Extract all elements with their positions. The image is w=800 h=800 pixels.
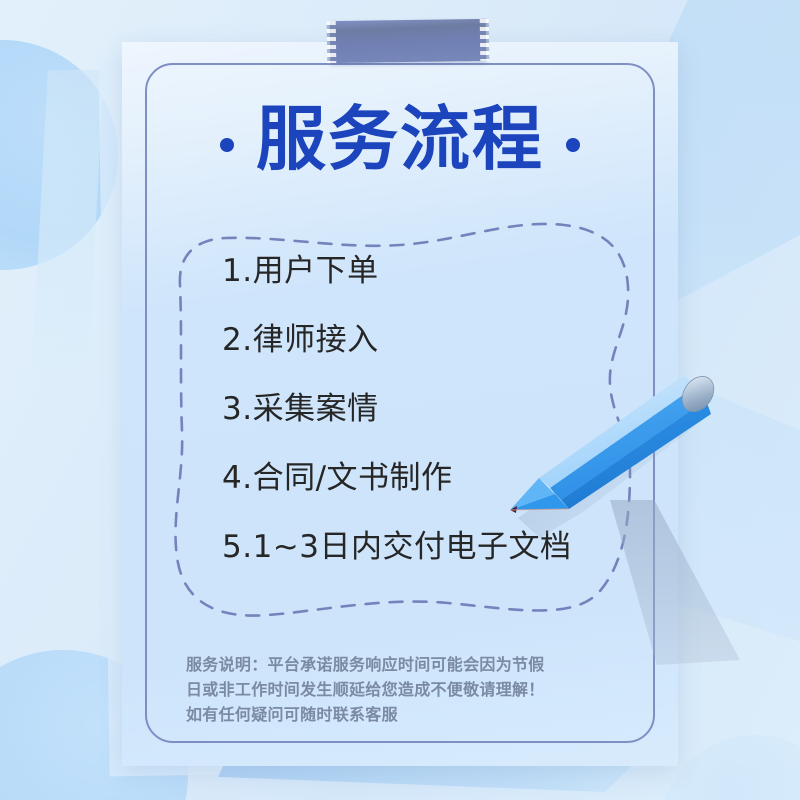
background-circle-bottom-right <box>660 735 800 800</box>
list-item: 2.律师接入 <box>222 325 642 356</box>
service-note-line-3: 如有任何疑问可随时联系客服 <box>186 703 596 728</box>
list-item: 1.用户下单 <box>222 256 642 287</box>
list-item: 5.1~3日内交付电子文档 <box>222 532 642 563</box>
service-note: 服务说明：平台承诺服务响应时间可能会因为节假 日或非工作时间发生顺延给您造成不便… <box>186 653 596 727</box>
title-text: 服务流程 <box>256 104 544 174</box>
title-bullet-right-icon <box>566 138 580 152</box>
service-note-line-2: 日或非工作时间发生顺延给您造成不便敬请理解！ <box>186 678 596 703</box>
title-bullet-left-icon <box>220 138 234 152</box>
page-title: 服务流程 <box>0 104 800 174</box>
list-item: 3.采集案情 <box>222 394 642 425</box>
list-item: 4.合同/文书制作 <box>222 463 642 494</box>
service-note-line-1: 服务说明：平台承诺服务响应时间可能会因为节假 <box>186 653 596 678</box>
steps-list: 1.用户下单 2.律师接入 3.采集案情 4.合同/文书制作 5.1~3日内交付… <box>222 256 642 563</box>
poster-canvas: 服务流程 1.用户下单 2.律师接入 3.采集案情 4.合同/文书制作 5.1~… <box>0 0 800 800</box>
washi-tape-icon <box>330 19 487 63</box>
